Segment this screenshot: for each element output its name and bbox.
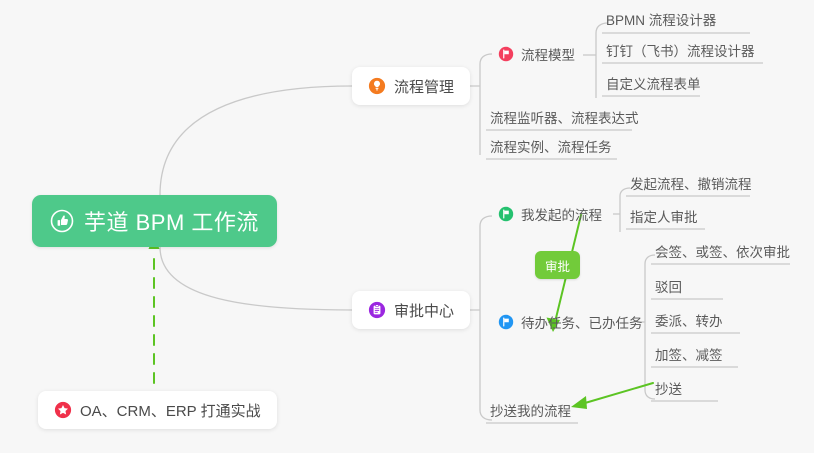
node-cc[interactable]: 抄送 — [649, 375, 688, 401]
root-node[interactable]: 芋道 BPM 工作流 — [32, 195, 277, 247]
thumbs-up-icon — [50, 209, 74, 233]
node-countersign-or-sequential-label: 会签、或签、依次审批 — [655, 241, 790, 264]
star-icon — [54, 401, 72, 419]
node-todo-done-tasks-label: 待办任务、已办任务 — [521, 312, 643, 332]
node-assignee-approval-label: 指定人审批 — [630, 206, 698, 229]
node-process-model-label: 流程模型 — [521, 44, 575, 64]
node-my-initiated-process[interactable]: 我发起的流程 — [492, 201, 608, 227]
node-start-cancel-process-label: 发起流程、撤销流程 — [630, 173, 752, 196]
branch-approval-center[interactable]: 审批中心 — [352, 291, 470, 329]
node-custom-process-form-label: 自定义流程表单 — [606, 73, 701, 96]
branch-process-management-label: 流程管理 — [394, 76, 454, 97]
link-root-to-approval-center — [160, 247, 352, 310]
branch-approval-center-label: 审批中心 — [394, 300, 454, 321]
node-instance-task-label: 流程实例、流程任务 — [490, 136, 612, 159]
flag-icon — [498, 46, 514, 62]
node-dingtalk-feishu-designer-label: 钉钉（飞书）流程设计器 — [606, 40, 755, 63]
node-instance-task[interactable]: 流程实例、流程任务 — [484, 133, 618, 159]
node-reject[interactable]: 驳回 — [649, 273, 688, 299]
approval-arrow-badge-label: 审批 — [545, 256, 570, 275]
node-process-model[interactable]: 流程模型 — [492, 41, 581, 67]
node-assignee-approval[interactable]: 指定人审批 — [624, 203, 704, 229]
root-label: 芋道 BPM 工作流 — [84, 205, 259, 237]
link-pm-corner-top — [480, 54, 492, 64]
node-add-remove-sign[interactable]: 加签、减签 — [649, 341, 729, 367]
node-todo-done-tasks[interactable]: 待办任务、已办任务 — [492, 309, 649, 335]
flag-icon — [498, 206, 514, 222]
node-start-cancel-process[interactable]: 发起流程、撤销流程 — [624, 170, 758, 196]
node-cc-to-me-process-label: 抄送我的流程 — [490, 400, 571, 423]
node-bpmn-designer[interactable]: BPMN 流程设计器 — [600, 6, 722, 32]
branch-process-management[interactable]: 流程管理 — [352, 67, 470, 105]
clipboard-icon — [368, 301, 386, 319]
node-cc-label: 抄送 — [655, 378, 682, 401]
node-add-remove-sign-label: 加签、减签 — [655, 344, 723, 367]
link-root-to-process-management — [160, 86, 352, 195]
link-ac-corner-top — [480, 216, 492, 226]
floating-note-label: OA、CRM、ERP 打通实战 — [80, 400, 261, 421]
node-delegate-transfer[interactable]: 委派、转办 — [649, 307, 729, 333]
node-dingtalk-feishu-designer[interactable]: 钉钉（飞书）流程设计器 — [600, 37, 761, 63]
node-listener-expression[interactable]: 流程监听器、流程表达式 — [484, 104, 645, 130]
node-my-initiated-process-label: 我发起的流程 — [521, 204, 602, 224]
node-custom-process-form[interactable]: 自定义流程表单 — [600, 70, 707, 96]
arrow-cc-to-ccmine — [585, 383, 653, 403]
node-cc-to-me-process[interactable]: 抄送我的流程 — [484, 397, 577, 423]
flag-icon — [498, 314, 514, 330]
node-reject-label: 驳回 — [655, 276, 682, 299]
floating-note-card[interactable]: OA、CRM、ERP 打通实战 — [38, 391, 277, 429]
lightbulb-icon — [368, 77, 386, 95]
approval-arrow-badge: 审批 — [535, 251, 580, 279]
node-listener-expression-label: 流程监听器、流程表达式 — [490, 107, 639, 130]
node-bpmn-designer-label: BPMN 流程设计器 — [606, 9, 716, 32]
mindmap-canvas: 芋道 BPM 工作流 OA、CRM、ERP 打通实战 流程管理 — [0, 0, 814, 453]
node-countersign-or-sequential[interactable]: 会签、或签、依次审批 — [649, 238, 796, 264]
node-delegate-transfer-label: 委派、转办 — [655, 310, 723, 333]
